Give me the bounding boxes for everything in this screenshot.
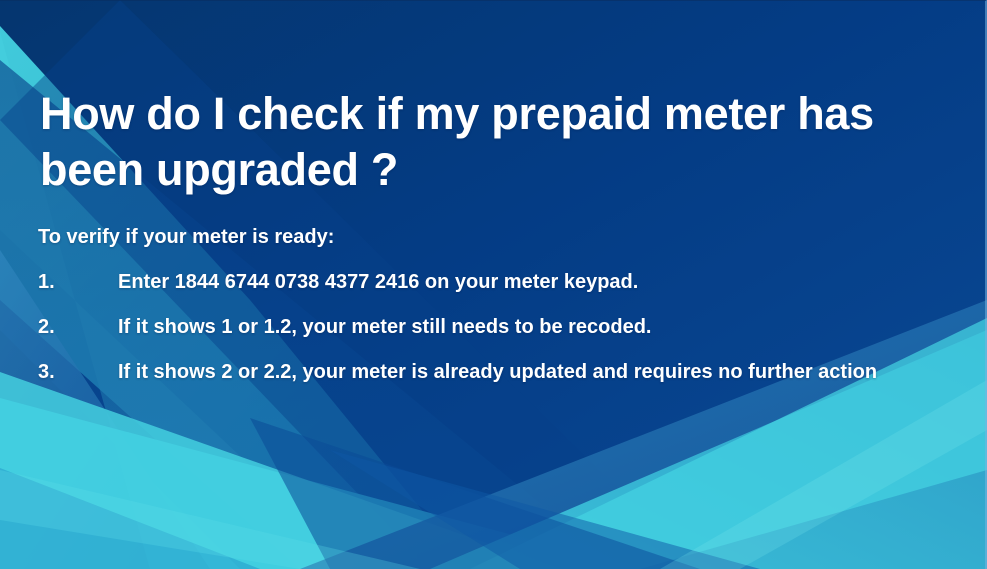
- step-number: 2.: [38, 313, 118, 342]
- intro-text: To verify if your meter is ready:: [38, 224, 334, 250]
- page-title: How do I check if my prepaid meter has b…: [40, 86, 900, 198]
- step-text: If it shows 1 or 1.2, your meter still n…: [118, 313, 968, 342]
- steps-list: 1. Enter 1844 6744 0738 4377 2416 on you…: [38, 268, 968, 403]
- slide-content: How do I check if my prepaid meter has b…: [0, 0, 987, 569]
- step-text: Enter 1844 6744 0738 4377 2416 on your m…: [118, 268, 968, 297]
- list-item: 3. If it shows 2 or 2.2, your meter is a…: [38, 358, 968, 387]
- step-number: 3.: [38, 358, 118, 387]
- step-text: If it shows 2 or 2.2, your meter is alre…: [118, 358, 968, 387]
- step-number: 1.: [38, 268, 118, 297]
- list-item: 2. If it shows 1 or 1.2, your meter stil…: [38, 313, 968, 342]
- list-item: 1. Enter 1844 6744 0738 4377 2416 on you…: [38, 268, 968, 297]
- slide-canvas: How do I check if my prepaid meter has b…: [0, 0, 987, 569]
